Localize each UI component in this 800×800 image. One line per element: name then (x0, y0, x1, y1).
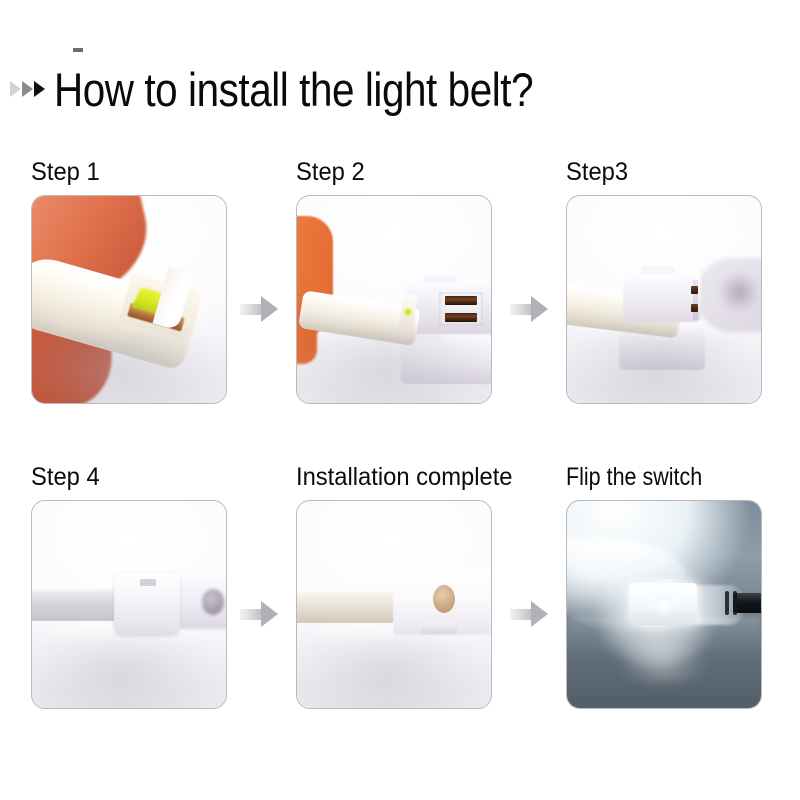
installation-complete-photo (296, 500, 492, 709)
connector-mounting-tab (421, 623, 457, 634)
surface-shadow (296, 333, 492, 404)
arrow-step2-to-step3 (510, 296, 550, 322)
step-row-top: Step 1 Step 2 (0, 160, 800, 465)
step-4-label: Step 4 (31, 465, 219, 490)
surface-shadow (31, 333, 227, 404)
step-4-scene (32, 501, 226, 708)
arrow-installation-complete-to-flip-the-switch (510, 601, 550, 627)
step-cell-2: Step 2 (296, 160, 494, 404)
thumb-shadow (717, 272, 761, 312)
connector-upper-half (623, 274, 701, 322)
title-tick-mark (73, 48, 83, 52)
connector-slot (140, 579, 156, 586)
step-row-bottom: Step 4 Installation complete (0, 465, 800, 770)
silicone-neon-tube (296, 589, 397, 623)
step-1-photo (31, 195, 227, 404)
flip-the-switch-scene (567, 501, 761, 708)
triangle-arrow-icon-light (10, 81, 21, 97)
surface-shadow (566, 333, 762, 404)
step-1-scene (32, 196, 226, 403)
arrow-head (531, 296, 548, 322)
arrow-step4-to-installation-complete (240, 601, 280, 627)
step-3-label: Step3 (566, 160, 754, 185)
step-2-scene (297, 196, 491, 403)
surface-shadow (296, 638, 492, 709)
title-row: How to install the light belt? (0, 58, 800, 120)
led-chip (405, 309, 411, 315)
flip-the-switch-photo (566, 500, 762, 709)
step-2-label: Step 2 (296, 160, 484, 185)
connector-screw-hole (655, 595, 673, 613)
flip-the-switch-label: Flip the switch (566, 465, 736, 490)
step-cell-1: Step 1 (31, 160, 229, 404)
connector-screw-hole (433, 585, 455, 613)
reflection-highlight (603, 642, 723, 682)
arrow-step1-to-step2 (240, 296, 280, 322)
cable-strain-relief-rib (733, 591, 737, 615)
cable-strain-relief-rib (725, 591, 729, 615)
page-title: How to install the light belt? (54, 66, 533, 113)
connector-pin-top (445, 296, 477, 305)
connector-pin-top (691, 286, 698, 294)
triangle-arrow-icon-mid (22, 81, 33, 97)
installation-complete-label: Installation complete (296, 465, 484, 490)
step-4-photo (31, 500, 227, 709)
silicone-neon-tube (31, 587, 122, 621)
connector-screw-hole (202, 589, 224, 615)
steps-grid: Step 1 Step 2 (0, 160, 800, 770)
connector-pin-bottom (691, 304, 698, 312)
step-1-label: Step 1 (31, 160, 219, 185)
step-3-scene (567, 196, 761, 403)
title-arrow-marks (10, 81, 45, 97)
surface-shadow (31, 638, 227, 709)
power-cable (733, 593, 762, 613)
arrow-head (261, 296, 278, 322)
step-cell-3: Step3 (566, 160, 764, 404)
installation-complete-scene (297, 501, 491, 708)
connector-pin-bottom (445, 313, 477, 322)
step-2-photo (296, 195, 492, 404)
step-cell-5: Installation complete (296, 465, 494, 709)
step-cell-6: Flip the switch (566, 465, 764, 709)
step-3-photo (566, 195, 762, 404)
arrow-head (531, 601, 548, 627)
step-cell-4: Step 4 (31, 465, 229, 709)
triangle-arrow-icon-dark (34, 81, 45, 97)
arrow-head (261, 601, 278, 627)
